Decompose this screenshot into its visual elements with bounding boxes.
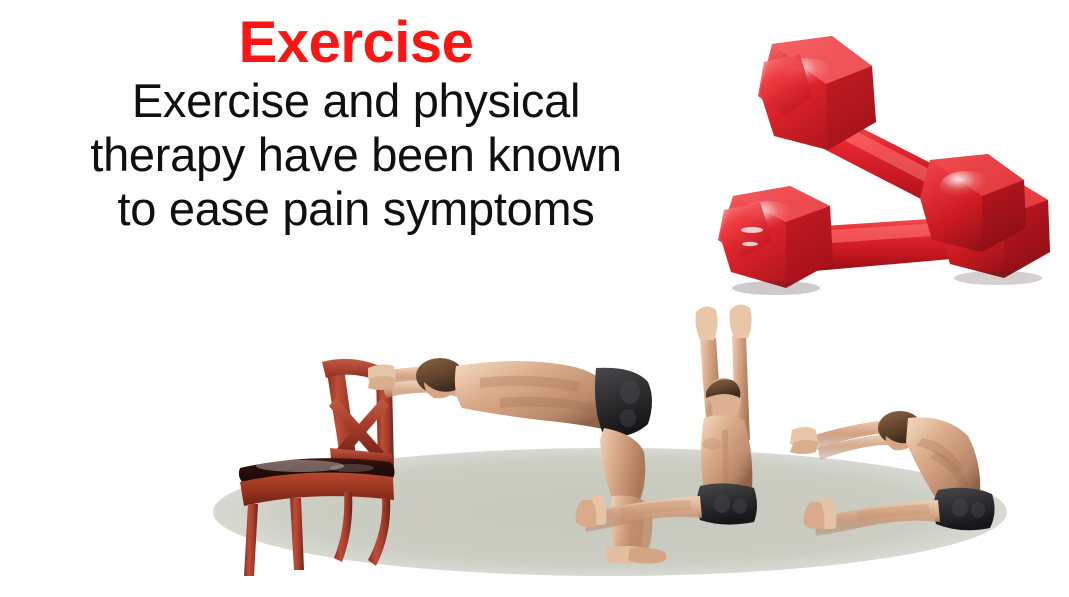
slide-canvas: Exercise Exercise and physical therapy h… — [0, 0, 1069, 597]
body-line-2: therapy have been known — [0, 128, 712, 182]
dumbbell-front — [718, 178, 1050, 295]
body-line-3: to ease pain symptoms — [0, 182, 712, 236]
figure-seated-forward-fold — [790, 411, 995, 536]
figure-standing-forward-bend — [368, 358, 667, 564]
chair-illustration — [239, 359, 396, 576]
text-block: Exercise Exercise and physical therapy h… — [0, 12, 712, 236]
floor-shadow-ellipse — [213, 448, 1007, 576]
body-line-1: Exercise and physical — [0, 74, 712, 128]
dumbbell-brand-mark — [741, 223, 985, 246]
dumbbell-back — [758, 36, 1026, 252]
page-title: Exercise — [0, 12, 712, 74]
dumbbells-illustration — [718, 36, 1050, 295]
figure-seated-arms-overhead — [576, 304, 757, 532]
